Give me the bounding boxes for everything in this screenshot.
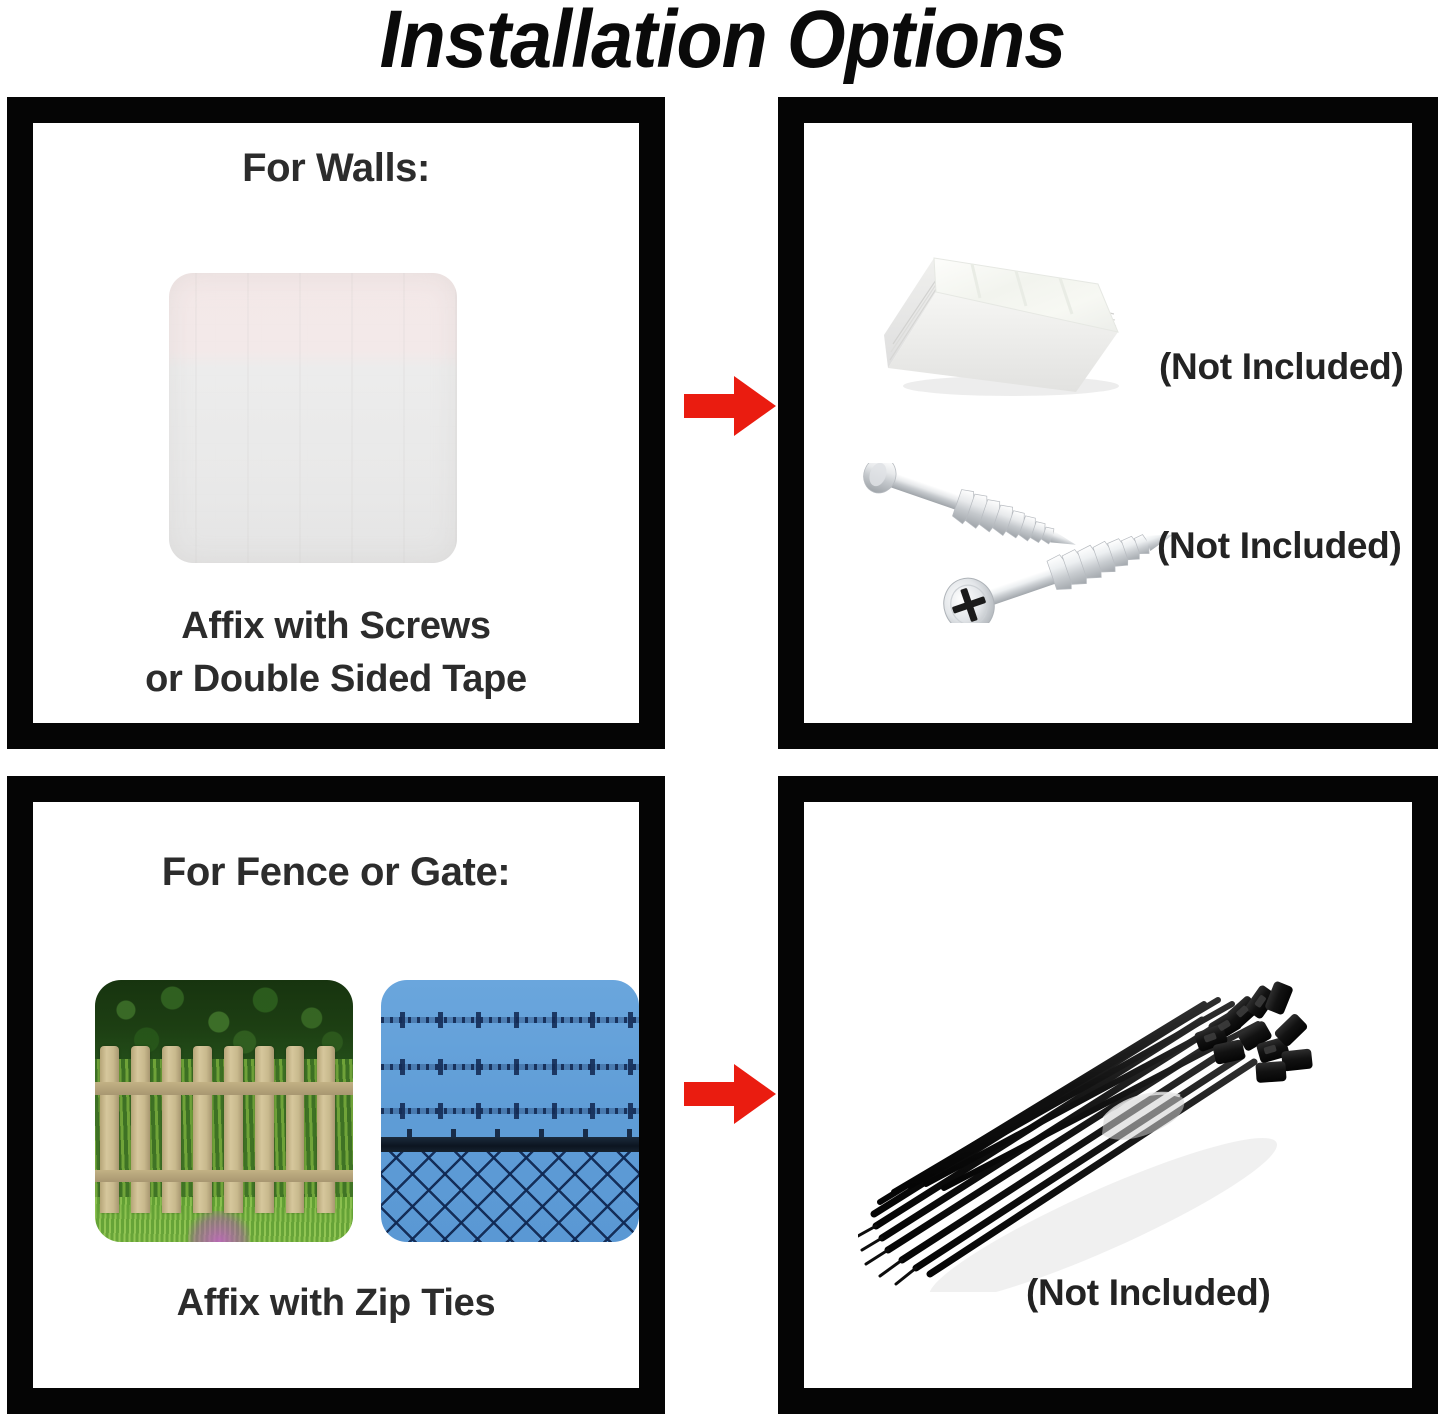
panel-for-fence-content: For Fence or Gate: xyxy=(33,802,639,1388)
zip-ties-not-included-label: (Not Included) xyxy=(1026,1272,1270,1314)
wooden-picket-fence-photo xyxy=(95,980,353,1242)
for-fence-heading: For Fence or Gate: xyxy=(33,850,639,895)
panel-fence-hardware: (Not Included) xyxy=(778,776,1438,1414)
panel-for-fence-or-gate: For Fence or Gate: xyxy=(7,776,665,1414)
walls-caption-line-1: Affix with Screws xyxy=(33,605,639,648)
arrow-right-icon xyxy=(684,374,776,438)
panel-wall-hardware-content: (Not Included) xyxy=(804,123,1412,723)
panel-fence-hardware-content: (Not Included) xyxy=(804,802,1412,1388)
wood-screw-phillips-icon xyxy=(922,527,1190,623)
panel-wall-hardware: (Not Included) xyxy=(778,97,1438,749)
tape-not-included-label: (Not Included) xyxy=(1159,346,1403,388)
black-zip-tie-bundle-icon xyxy=(858,920,1336,1292)
fence-caption-line-1: Affix with Zip Ties xyxy=(33,1282,639,1325)
walls-caption-line-2: or Double Sided Tape xyxy=(33,658,639,701)
arrow-right-icon xyxy=(684,1062,776,1126)
for-walls-heading: For Walls: xyxy=(33,146,639,191)
panel-for-walls-content: For Walls: Affix with Screws or Double S… xyxy=(33,123,639,723)
panel-for-walls: For Walls: Affix with Screws or Double S… xyxy=(7,97,665,749)
chain-link-barbed-wire-fence-photo xyxy=(381,980,639,1242)
page-title: Installation Options xyxy=(58,0,1387,85)
white-brick-wall-swatch-icon xyxy=(169,273,457,563)
double-sided-tape-stack-icon xyxy=(876,240,1126,400)
screws-not-included-label: (Not Included) xyxy=(1157,525,1401,567)
